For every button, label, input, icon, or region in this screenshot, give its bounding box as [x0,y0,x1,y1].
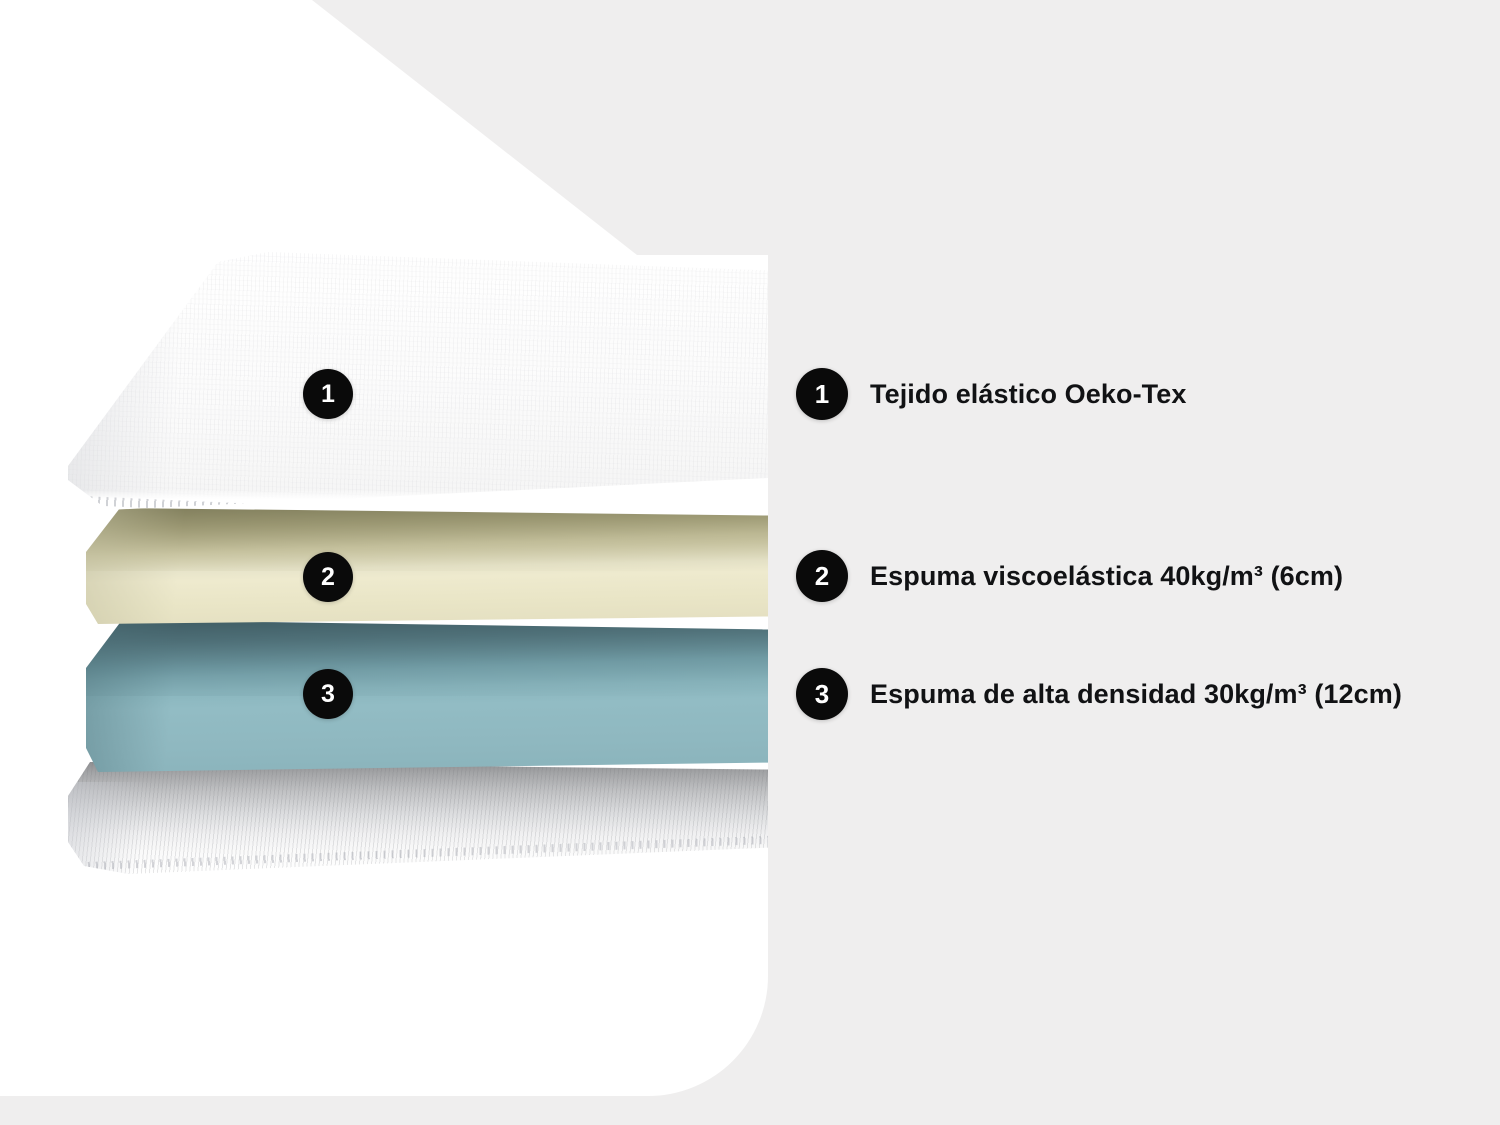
legend-badge-1: 1 [796,368,848,420]
layer-marker-badge-1[interactable]: 1 [303,369,353,419]
viscoelastic-foam-left-shading [86,508,206,624]
legend-item-2[interactable]: 2 Espuma viscoelástica 40kg/m³ (6cm) [796,550,1343,602]
legend-label-1: Tejido elástico Oeko-Tex [870,379,1187,410]
legend-list: 1 Tejido elástico Oeko-Tex 2 Espuma visc… [796,0,1456,1125]
mattress-layer-base-fabric [68,762,768,874]
legend-item-3[interactable]: 3 Espuma de alta densidad 30kg/m³ (12cm) [796,668,1402,720]
mattress-stack: 1 2 3 [0,0,768,1125]
cover-fabric-left-shading [68,252,218,510]
legend-label-2: Espuma viscoelástica 40kg/m³ (6cm) [870,561,1343,592]
legend-badge-3: 3 [796,668,848,720]
legend-label-3: Espuma de alta densidad 30kg/m³ (12cm) [870,679,1402,710]
legend-badge-2: 2 [796,550,848,602]
legend-item-1[interactable]: 1 Tejido elástico Oeko-Tex [796,368,1187,420]
layer-marker-badge-2[interactable]: 2 [303,552,353,602]
mattress-layer-high-density-foam [86,620,768,772]
high-density-foam-left-shading [86,620,196,772]
mattress-layer-cover-fabric [68,252,768,510]
layer-marker-badge-3[interactable]: 3 [303,669,353,719]
mattress-layers-infographic: 1 2 3 1 Tejido elástico Oeko-Tex 2 Espum… [0,0,1500,1125]
mattress-layer-viscoelastic-foam [86,508,768,624]
